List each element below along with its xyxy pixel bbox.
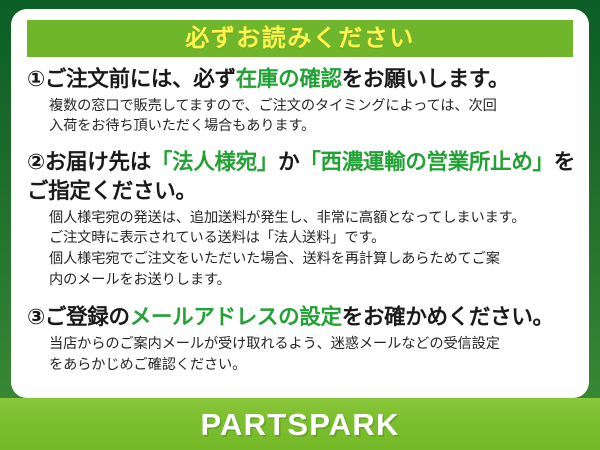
notice-list: ①ご注文前には、必ず在庫の確認をお願いします。 複数の窓口で販売してますので、ご…	[11, 65, 589, 377]
body-line: をあらかじめご確認ください。	[49, 355, 575, 376]
heading-segment-highlight: 「法人様宛」	[151, 150, 278, 174]
body-line: 個人様宅宛の発送は、追加送料が発生し、非常に高額となってしまいます。	[49, 208, 575, 229]
body-line: 入荷をお待ち頂いただく場合もあります。	[49, 116, 575, 137]
item-marker: ③	[27, 305, 45, 329]
item-heading: ①ご注文前には、必ず在庫の確認をお願いします。	[27, 65, 575, 94]
item-body: 当店からのご案内メールが受け取れるよう、迷惑メールなどの受信設定 をあらかじめご…	[27, 334, 575, 376]
item-marker: ②	[27, 150, 45, 174]
body-line: 当店からのご案内メールが受け取れるよう、迷惑メールなどの受信設定	[49, 334, 575, 355]
brand-logo: PARTSPARK	[200, 409, 399, 440]
heading-segment: ご注文前には、必ず	[45, 67, 236, 91]
item-body: 個人様宅宛の発送は、追加送料が発生し、非常に高額となってしまいます。 ご注文時に…	[27, 208, 575, 292]
heading-segment: か	[278, 150, 299, 174]
item-heading: ②お届け先は「法人様宛」か「西濃運輸の営業所止め」をご指定ください。	[27, 148, 575, 205]
heading-segment: をお願いします。	[342, 67, 509, 91]
heading-segment: をお確かめください。	[342, 305, 554, 329]
heading-segment: お届け先は	[45, 150, 151, 174]
content-panel: 必ずお読みください ①ご注文前には、必ず在庫の確認をお願いします。 複数の窓口で…	[11, 9, 589, 398]
body-line: ご注文時に表示されている送料は「法人送料」です。	[49, 228, 575, 249]
list-item: ①ご注文前には、必ず在庫の確認をお願いします。 複数の窓口で販売してますので、ご…	[27, 65, 575, 137]
item-marker: ①	[27, 67, 45, 91]
item-body: 複数の窓口で販売してますので、ご注文のタイミングによっては、次回 入荷をお待ち頂…	[27, 96, 575, 138]
list-item: ③ご登録のメールアドレスの設定をお確かめください。 当店からのご案内メールが受け…	[27, 303, 575, 375]
heading-segment: ご登録の	[45, 305, 130, 329]
notice-banner: 必ずお読みください ①ご注文前には、必ず在庫の確認をお願いします。 複数の窓口で…	[0, 0, 600, 450]
body-line: 個人様宅宛でご注文をいただいた場合、送料を再計算しあらためてご案	[49, 249, 575, 270]
item-heading: ③ご登録のメールアドレスの設定をお確かめください。	[27, 303, 575, 332]
header-band: 必ずお読みください	[27, 20, 573, 57]
body-line: 複数の窓口で販売してますので、ご注文のタイミングによっては、次回	[49, 96, 575, 117]
heading-segment-highlight: 「西濃運輸の営業所止め」	[299, 150, 553, 174]
body-line: 内のメールをお送りします。	[49, 270, 575, 291]
heading-segment-highlight: 在庫の確認	[236, 67, 342, 91]
heading-segment-highlight: メールアドレスの設定	[130, 305, 342, 329]
page-title: 必ずお読みください	[185, 27, 415, 51]
footer-bar: PARTSPARK	[0, 398, 600, 450]
list-item: ②お届け先は「法人様宛」か「西濃運輸の営業所止め」をご指定ください。 個人様宅宛…	[27, 148, 575, 291]
